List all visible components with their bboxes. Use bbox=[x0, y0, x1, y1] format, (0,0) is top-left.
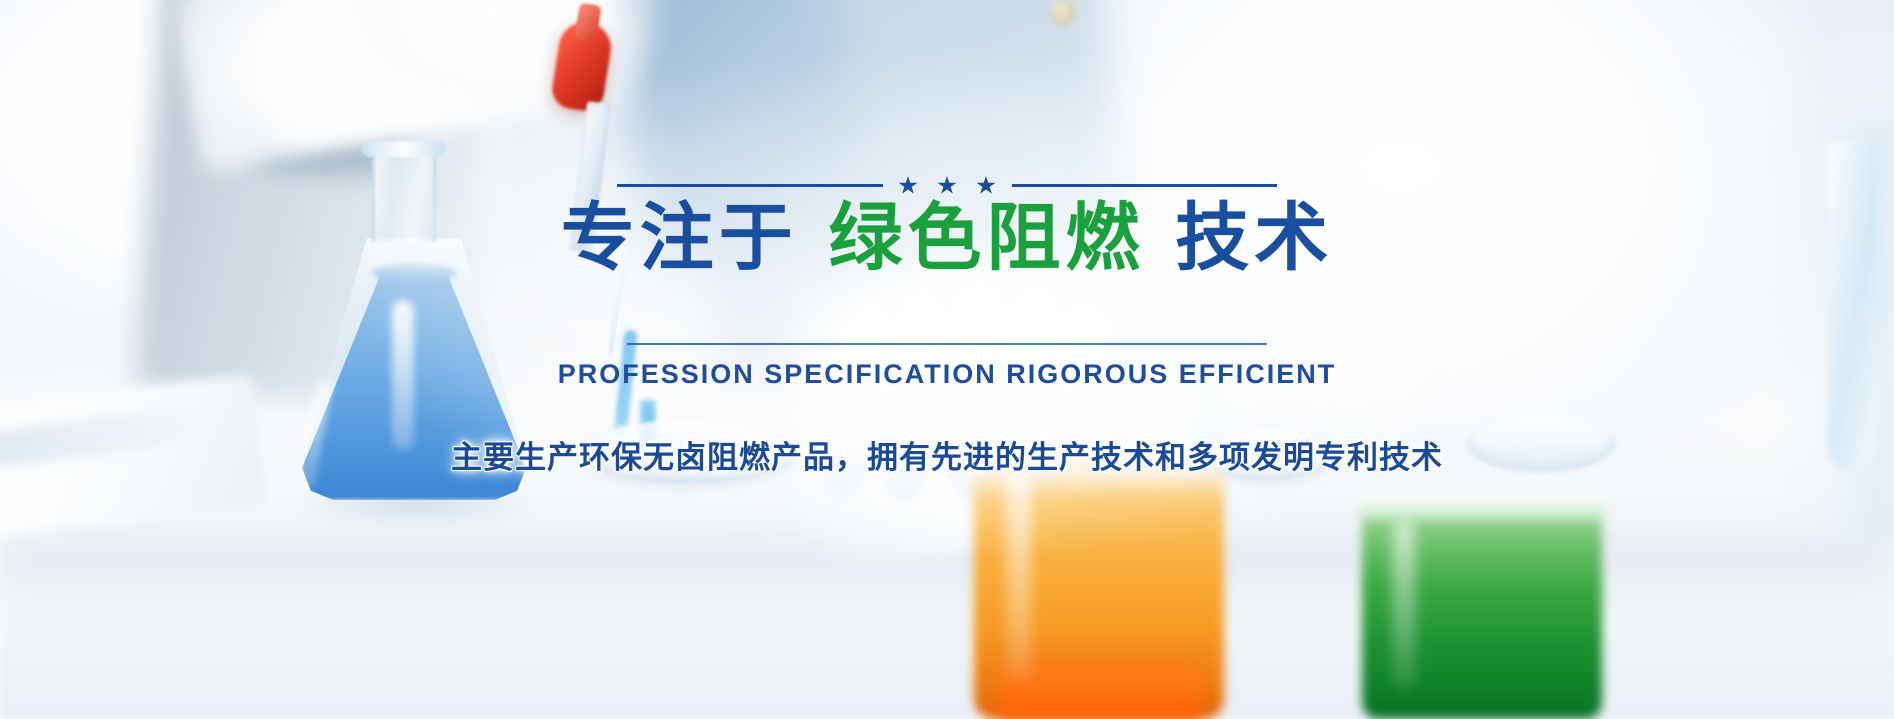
orange-beaker-highlight bbox=[1006, 470, 1032, 680]
shirt-button bbox=[1050, 0, 1076, 26]
petri-dish-center bbox=[580, 420, 796, 484]
green-beaker-rim bbox=[1356, 494, 1608, 518]
flask-liquid-surface bbox=[372, 264, 456, 282]
erlenmeyer-flask-lip bbox=[362, 141, 446, 157]
petri-dish-far-right bbox=[1466, 412, 1616, 472]
hero-banner: 专注于 绿色阻燃 技术 PROFESSION SPECIFICATION RIG… bbox=[0, 0, 1894, 719]
orange-beaker-rim bbox=[968, 444, 1230, 470]
test-tube-right bbox=[1828, 140, 1878, 470]
flask-highlight bbox=[392, 300, 414, 450]
erlenmeyer-flask-neck bbox=[372, 146, 436, 242]
green-beaker-highlight bbox=[1392, 520, 1416, 690]
